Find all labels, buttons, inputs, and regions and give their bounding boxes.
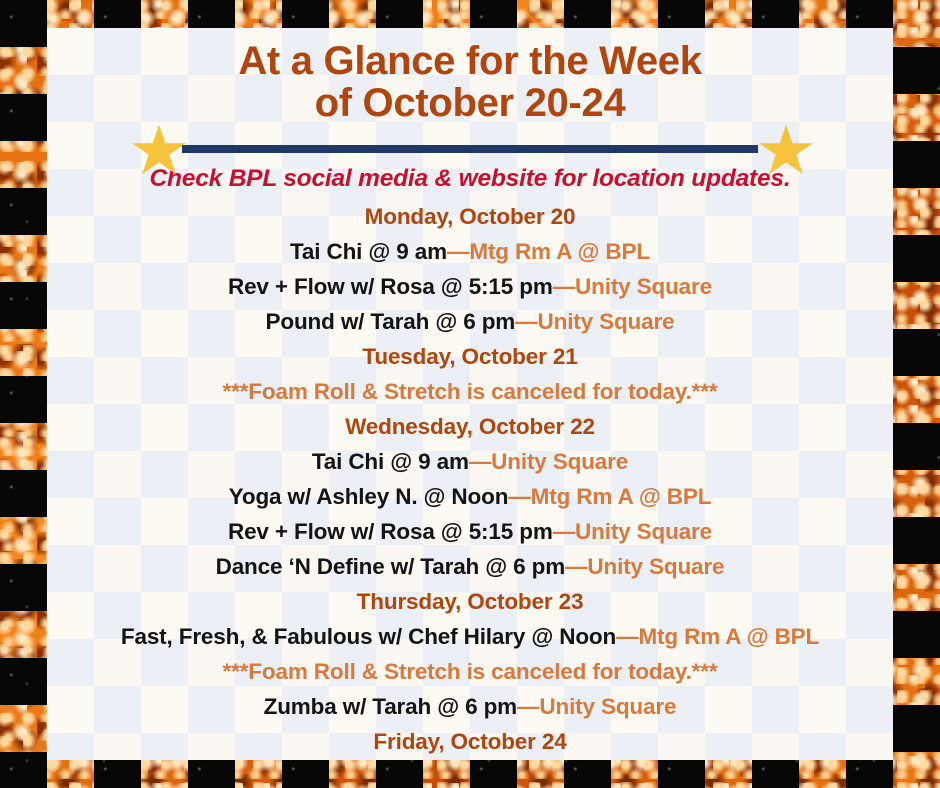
class-name: Fast, Fresh, & Fabulous w/ Chef Hilary @… xyxy=(121,624,616,649)
day-header: Tuesday, October 21 xyxy=(47,339,893,374)
class-name: Pound w/ Tarah @ 6 pm xyxy=(266,309,516,334)
class-location: —Mtg Rm A @ BPL xyxy=(447,239,650,264)
title-divider-row xyxy=(47,133,893,163)
class-name: Rev + Flow w/ Rosa @ 5:15 pm xyxy=(228,519,553,544)
class-location: —Unity Square xyxy=(469,449,628,474)
cancellation-notice: ***Foam Roll & Stretch is canceled for t… xyxy=(47,374,893,409)
class-location: —Mtg Rm A @ BPL xyxy=(508,484,711,509)
class-entry: Rev + Flow w/ Rosa @ 5:15 pm—Unity Squar… xyxy=(47,514,893,549)
class-entry: Dance ‘N Define w/ Tarah @ 6 pm—Unity Sq… xyxy=(47,549,893,584)
day-header: Friday, October 24 xyxy=(47,724,893,759)
day-header: Monday, October 20 xyxy=(47,199,893,234)
class-entry: Fast, Fresh, & Fabulous w/ Chef Hilary @… xyxy=(47,619,893,654)
class-entry: Yoga w/ Ashley N. @ Noon—Mtg Rm A @ BPL xyxy=(47,479,893,514)
schedule-list: Monday, October 20Tai Chi @ 9 am—Mtg Rm … xyxy=(47,199,893,760)
poster-canvas: At a Glance for the Week of October 20-2… xyxy=(0,0,940,788)
class-location: —Mtg Rm A @ BPL xyxy=(616,624,819,649)
page-title-line-2: of October 20-24 xyxy=(87,82,853,124)
class-location: —Unity Square xyxy=(515,309,674,334)
class-location: —Unity Square xyxy=(517,694,676,719)
class-location: —Unity Square xyxy=(565,554,724,579)
divider xyxy=(182,145,758,153)
class-entry: HIGH Fitness w/ Ashlynn @ 9 am—Mtg Rm A … xyxy=(47,759,893,760)
day-header: Thursday, October 23 xyxy=(47,584,893,619)
class-name: Zumba w/ Tarah @ 6 pm xyxy=(264,694,517,719)
page-title: At a Glance for the Week of October 20-2… xyxy=(47,40,893,125)
content-panel: At a Glance for the Week of October 20-2… xyxy=(47,28,893,760)
class-name: Tai Chi @ 9 am xyxy=(312,449,469,474)
page-title-line-1: At a Glance for the Week xyxy=(87,40,853,82)
cancellation-notice: ***Foam Roll & Stretch is canceled for t… xyxy=(47,654,893,689)
day-header: Wednesday, October 22 xyxy=(47,409,893,444)
class-name: Yoga w/ Ashley N. @ Noon xyxy=(229,484,509,509)
class-name: Dance ‘N Define w/ Tarah @ 6 pm xyxy=(216,554,565,579)
class-location: —Unity Square xyxy=(553,519,712,544)
class-location: —Unity Square xyxy=(553,274,712,299)
class-entry: Zumba w/ Tarah @ 6 pm—Unity Square xyxy=(47,689,893,724)
class-entry: Tai Chi @ 9 am—Mtg Rm A @ BPL xyxy=(47,234,893,269)
class-name: Tai Chi @ 9 am xyxy=(290,239,447,264)
class-name: Rev + Flow w/ Rosa @ 5:15 pm xyxy=(228,274,553,299)
class-entry: Tai Chi @ 9 am—Unity Square xyxy=(47,444,893,479)
class-entry: Pound w/ Tarah @ 6 pm—Unity Square xyxy=(47,304,893,339)
class-entry: Rev + Flow w/ Rosa @ 5:15 pm—Unity Squar… xyxy=(47,269,893,304)
